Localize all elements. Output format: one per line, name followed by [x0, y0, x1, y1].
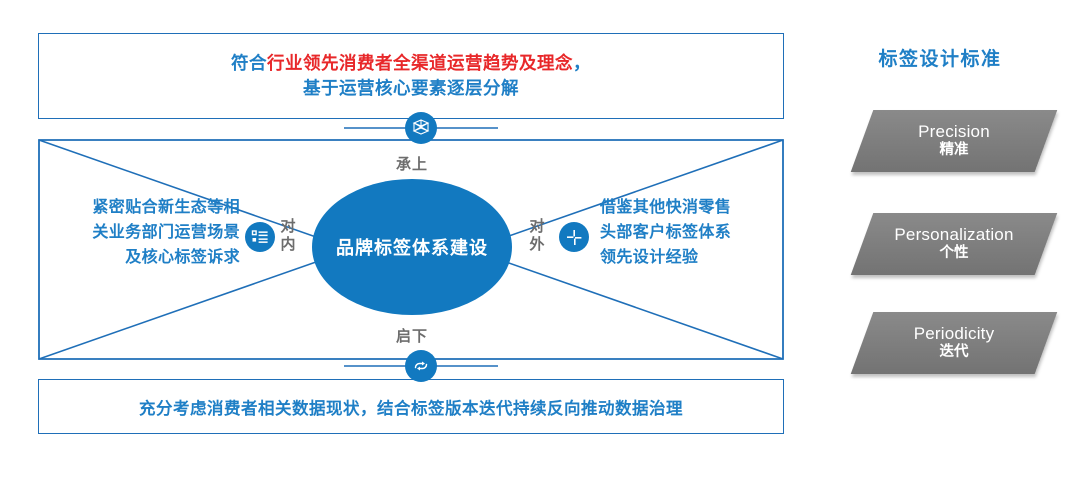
standard-item-labels: Periodicity 迭代: [862, 312, 1046, 374]
right-branch-label: 对外: [526, 218, 548, 253]
standard-item-en: Personalization: [894, 226, 1013, 245]
standard-item-cn: 个性: [940, 246, 969, 262]
slide-canvas: 符合行业领先消费者全渠道运营趋势及理念， 基于运营核心要素逐层分解 充分考虑消费…: [0, 0, 1080, 480]
left-branch-line-3: 及核心标签诉求: [50, 246, 240, 271]
left-branch-label: 对内: [277, 218, 299, 253]
left-branch-line-2: 关业务部门运营场景: [50, 221, 240, 246]
standard-item-precision[interactable]: Precision 精准: [862, 110, 1046, 172]
standard-item-en: Periodicity: [914, 325, 995, 344]
standard-item-personalization[interactable]: Personalization 个性: [862, 213, 1046, 275]
left-branch-label-text: 对内: [280, 218, 295, 253]
list-icon-glyph: [251, 228, 269, 246]
right-branch-line-1: 借鉴其他快消零售: [600, 196, 790, 221]
bottom-banner-text: 充分考虑消费者相关数据现状，结合标签版本迭代持续反向推动数据治理: [38, 379, 784, 434]
standard-item-labels: Personalization 个性: [862, 213, 1046, 275]
cycle-arrow-a: [422, 362, 425, 366]
top-branch-label: 承上: [382, 153, 442, 174]
standard-item-cn: 迭代: [940, 345, 969, 361]
standards-title: 标签设计标准: [800, 44, 1080, 71]
left-branch-text: 紧密贴合新生态等相 关业务部门运营场景 及核心标签诉求: [50, 196, 240, 270]
left-branch-line-1: 紧密贴合新生态等相: [50, 196, 240, 221]
standard-item-en: Precision: [918, 123, 990, 142]
bottom-branch-label: 启下: [382, 325, 442, 346]
cycle-refresh-icon: [405, 350, 437, 382]
standard-item-cn: 精准: [940, 143, 969, 159]
pinwheel-icon-glyph: [565, 228, 584, 247]
right-branch-line-2: 头部客户标签体系: [600, 221, 790, 246]
top-branch-label-text: 承上: [396, 156, 428, 173]
center-ellipse-label: 品牌标签体系建设: [336, 234, 488, 260]
standard-item-periodicity[interactable]: Periodicity 迭代: [862, 312, 1046, 374]
network-nodes-icon: [405, 112, 437, 144]
list-icon: [245, 222, 275, 252]
cycle-arrow-b: [417, 367, 420, 371]
center-radial-diagram: 符合行业领先消费者全渠道运营趋势及理念， 基于运营核心要素逐层分解 充分考虑消费…: [0, 0, 800, 480]
standard-item-labels: Precision 精准: [862, 110, 1046, 172]
network-nodes-icon-glyph: [411, 118, 431, 138]
right-branch-text: 借鉴其他快消零售 头部客户标签体系 领先设计经验: [600, 196, 790, 270]
right-branch-line-3: 领先设计经验: [600, 246, 790, 271]
standards-panel: 标签设计标准 Precision 精准 Personalization 个性 P…: [800, 0, 1080, 480]
bottom-branch-label-text: 启下: [396, 328, 428, 345]
pinwheel-icon: [559, 222, 589, 252]
right-branch-label-text: 对外: [529, 218, 544, 253]
cycle-refresh-icon-glyph: [411, 356, 431, 376]
center-ellipse[interactable]: 品牌标签体系建设: [312, 179, 512, 315]
